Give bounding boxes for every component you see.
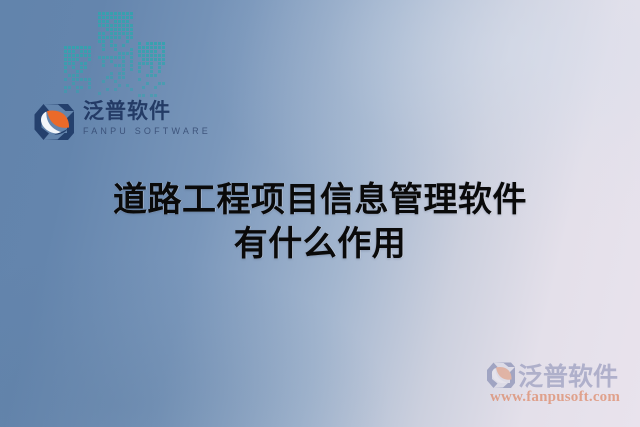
fanpu-watermark-logo-icon — [486, 361, 516, 389]
mosaic-column-2 — [98, 12, 134, 96]
watermark-url: www.fanpusoft.com — [490, 389, 620, 406]
pixel-mosaic-skyline — [62, 4, 166, 96]
watermark-name-cn: 泛普软件 — [518, 357, 618, 393]
brand-name-cn: 泛普软件 — [83, 98, 211, 124]
page-title-line-2: 有什么作用 — [0, 222, 640, 266]
watermark: 泛普软件 www.fanpusoft.com — [484, 359, 632, 411]
mosaic-column-3 — [138, 42, 166, 96]
page-title: 道路工程项目信息管理软件 有什么作用 — [0, 178, 640, 266]
brand-text-group: 泛普软件 FANPU SOFTWARE — [83, 98, 211, 137]
brand-logo-lockup: 泛普软件 FANPU SOFTWARE — [33, 100, 223, 148]
poster-canvas: 泛普软件 FANPU SOFTWARE 道路工程项目信息管理软件 有什么作用 泛… — [0, 0, 640, 427]
fanpu-hex-swoosh-logo-icon — [33, 102, 75, 142]
mosaic-column-1 — [64, 46, 92, 96]
brand-name-en: FANPU SOFTWARE — [83, 125, 211, 137]
page-title-line-1: 道路工程项目信息管理软件 — [0, 178, 640, 222]
